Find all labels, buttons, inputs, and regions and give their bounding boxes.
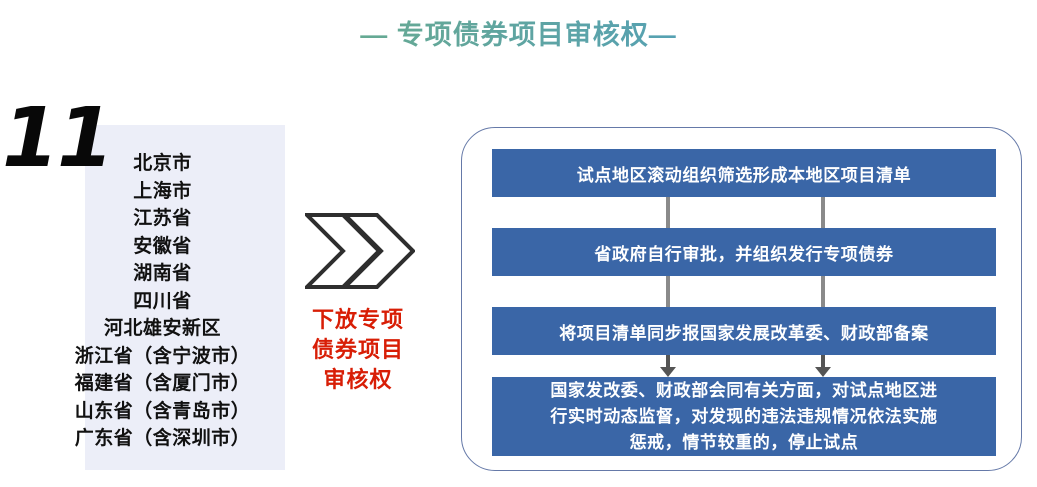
connector-line — [821, 276, 825, 307]
list-item: 山东省（含青岛市） — [30, 398, 295, 426]
caption-line: 下放专项 — [288, 305, 428, 335]
flow-step-4-line: 惩戒，情节较重的，停止试点 — [550, 430, 937, 456]
count-badge: 11 — [2, 98, 112, 180]
flow-step-3: 将项目清单同步报国家发展改革委、财政部备案 — [492, 307, 996, 355]
delegation-caption: 下放专项 债券项目 审核权 — [288, 305, 428, 395]
connector-line — [666, 276, 670, 307]
connector-line — [821, 197, 825, 228]
list-item: 湖南省 — [30, 260, 295, 288]
connector-line — [666, 197, 670, 228]
flow-step-4-line: 行实时动态监督，对发现的违法违规情况依法实施 — [550, 404, 937, 430]
list-item: 四川省 — [30, 288, 295, 316]
list-item: 浙江省（含宁波市） — [30, 343, 295, 371]
double-chevron-right-icon — [305, 212, 415, 290]
list-item: 广东省（含深圳市） — [30, 425, 295, 453]
list-item: 福建省（含厦门市） — [30, 370, 295, 398]
caption-line: 债券项目 — [288, 335, 428, 365]
page-title: — 专项债券项目审核权— — [0, 18, 1037, 52]
region-list: 北京市 上海市 江苏省 安徽省 湖南省 四川省 河北雄安新区 浙江省（含宁波市）… — [30, 150, 295, 453]
arrow-down-icon — [660, 367, 676, 377]
process-flow-container: 试点地区滚动组织筛选形成本地区项目清单 省政府自行审批，并组织发行专项债券 将项… — [461, 127, 1022, 471]
flow-step-1: 试点地区滚动组织筛选形成本地区项目清单 — [492, 149, 996, 197]
list-item: 江苏省 — [30, 205, 295, 233]
caption-line: 审核权 — [288, 365, 428, 395]
list-item: 河北雄安新区 — [30, 315, 295, 343]
flow-step-4-line: 国家发改委、财政部会同有关方面，对试点地区进 — [550, 378, 937, 404]
list-item: 安徽省 — [30, 233, 295, 261]
arrow-down-icon — [815, 367, 831, 377]
slide-canvas: — 专项债券项目审核权— 11 北京市 上海市 江苏省 安徽省 湖南省 四川省 … — [0, 0, 1037, 487]
flow-step-2: 省政府自行审批，并组织发行专项债券 — [492, 228, 996, 276]
flow-step-4: 国家发改委、财政部会同有关方面，对试点地区进 行实时动态监督，对发现的违法违规情… — [492, 377, 996, 456]
